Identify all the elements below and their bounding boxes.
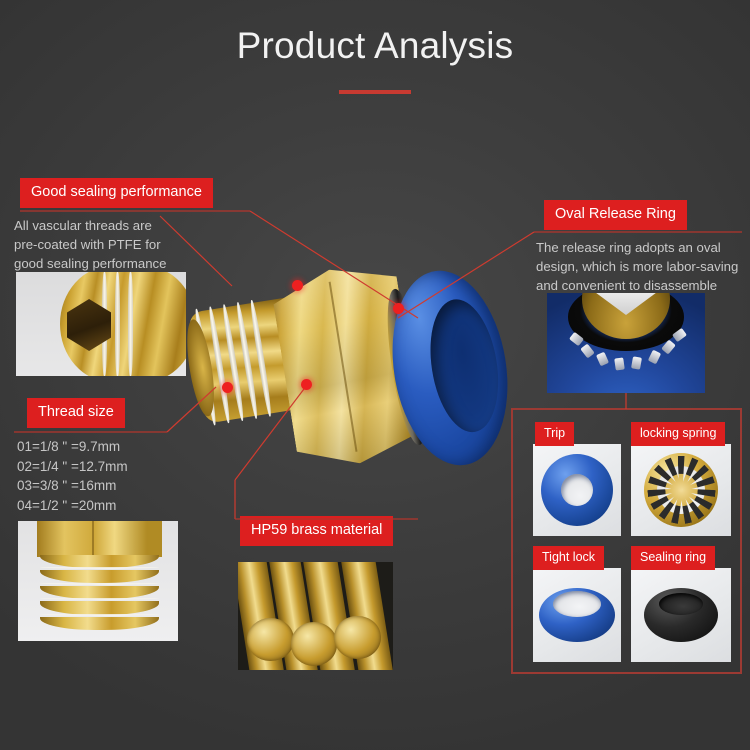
infographic-canvas: Product Analysis bbox=[0, 0, 750, 750]
description-good-sealing-performance: All vascular threads are pre-coated with… bbox=[14, 216, 226, 273]
blue-collet-ring bbox=[539, 588, 615, 642]
black-rubber-seal bbox=[644, 588, 718, 642]
grid-cell-sealing-ring: Sealing ring bbox=[623, 546, 731, 664]
grid-cell-tight-lock: Tight lock bbox=[525, 546, 621, 664]
component-grid-frame: Trip locking spring bbox=[511, 408, 742, 674]
title-block: Product Analysis bbox=[0, 26, 750, 94]
badge-trip[interactable]: Trip bbox=[535, 422, 574, 446]
blue-o-ring bbox=[541, 454, 613, 526]
callout-marker-threads-top bbox=[292, 280, 303, 291]
badge-tight-lock[interactable]: Tight lock bbox=[533, 546, 604, 570]
callout-marker-release-ring bbox=[393, 303, 404, 314]
photo-blue-o-ring bbox=[533, 444, 621, 536]
badge-hp59-brass-material[interactable]: HP59 brass material bbox=[240, 516, 393, 546]
product-hero-image bbox=[196, 248, 496, 506]
photo-oval-release-ring-macro bbox=[547, 293, 705, 393]
photo-gold-locking-spring bbox=[631, 444, 731, 536]
hex-head bbox=[37, 521, 162, 557]
badge-thread-size[interactable]: Thread size bbox=[27, 398, 125, 428]
badge-good-sealing-performance[interactable]: Good sealing performance bbox=[20, 178, 213, 208]
thread-size-spec-list: 01=1/8 " =9.7mm 02=1/4 " =12.7mm 03=3/8 … bbox=[17, 437, 217, 515]
callout-marker-threads-left bbox=[222, 382, 233, 393]
grid-cell-locking-spring: locking spring bbox=[623, 422, 731, 536]
gold-locking-spring bbox=[644, 453, 718, 527]
grid-cell-trip: Trip bbox=[525, 422, 621, 536]
photo-brass-rod-bundle bbox=[238, 562, 393, 670]
photo-brass-thread-hex-socket bbox=[16, 272, 186, 376]
page-title: Product Analysis bbox=[0, 26, 750, 67]
photo-blue-collet-ring bbox=[533, 568, 621, 662]
badge-oval-release-ring[interactable]: Oval Release Ring bbox=[544, 200, 687, 230]
badge-locking-spring[interactable]: locking spring bbox=[631, 422, 725, 446]
photo-brass-hex-thread-front bbox=[18, 521, 178, 641]
callout-marker-hex-body bbox=[301, 379, 312, 390]
description-oval-release-ring: The release ring adopts an oval design, … bbox=[536, 238, 750, 295]
title-underline-rule bbox=[339, 90, 411, 94]
photo-black-rubber-seal bbox=[631, 568, 731, 662]
badge-sealing-ring[interactable]: Sealing ring bbox=[631, 546, 715, 570]
